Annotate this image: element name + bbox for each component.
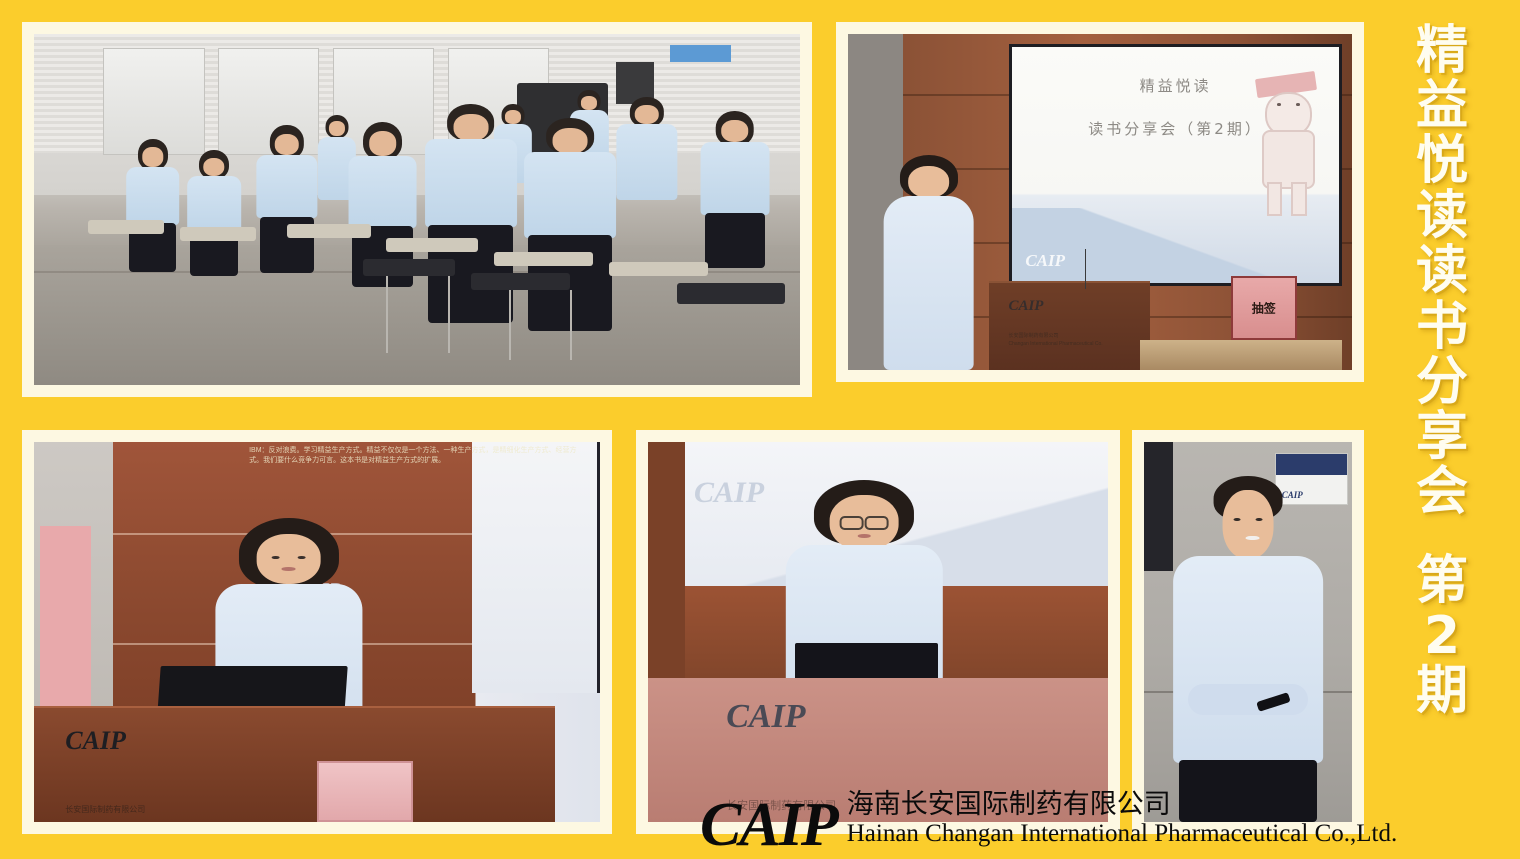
desk-tablet — [494, 252, 594, 266]
watermark: CAIP 海南长安国际制药有限公司 Hainan Changan Interna… — [700, 790, 1397, 852]
attendee — [700, 111, 769, 294]
photo-frame-speaker-projector: 精益悦读 读书分享会（第2期） CAIP CAIP — [836, 22, 1364, 382]
side-table — [1140, 340, 1342, 370]
photo-presenter-at-podium-left: IBM：反对浪费。学习精益生产方式。精益不仅仅是一个方法、一种生产方式，是精细化… — [34, 442, 600, 822]
watermark-logo: CAIP — [700, 799, 837, 852]
podium-subtitle: 长安国际制药有限公司 Changan International Pharmac… — [1008, 333, 1102, 348]
pink-wall-panel — [40, 526, 91, 708]
photo-frame-man-arms-crossed: CAIP — [1132, 430, 1364, 834]
lottery-box: 抽签 — [1231, 276, 1297, 340]
title-char: 第 — [1416, 554, 1468, 609]
title-char: 期 — [1416, 664, 1468, 719]
title-char: 分 — [1416, 355, 1468, 410]
podium-logo: CAIP — [726, 698, 805, 736]
dark-doorway — [1144, 442, 1173, 571]
chair-leg — [570, 290, 572, 360]
desk-tablet — [609, 262, 709, 276]
podium: CAIP 长安国际制药有限公司 Changan International Ph… — [989, 281, 1150, 370]
microphone-stand — [1085, 249, 1086, 289]
attendee-foreground — [425, 104, 517, 350]
photo-frame-classroom-audience — [22, 22, 812, 397]
title-char: 会 — [1416, 465, 1468, 520]
title-char: 悦 — [1416, 134, 1468, 189]
title-char: 书 — [1416, 300, 1468, 355]
podium: CAIP 长安国际制药有限公司 — [34, 706, 555, 822]
watermark-company-en: Hainan Changan International Pharmaceuti… — [847, 820, 1398, 848]
title-char: 精 — [1416, 24, 1468, 79]
lottery-box — [317, 761, 413, 822]
podium-logo: CAIP — [1008, 298, 1043, 315]
slide-body-text: IBM：反对浪费。学习精益生产方式。精益不仅仅是一个方法、一种生产方式，是精细化… — [249, 446, 589, 495]
desk-tablet — [88, 220, 165, 234]
slide-caip-watermark: CAIP — [1025, 251, 1065, 271]
desk-tablet — [386, 238, 478, 252]
wood-wall-left — [648, 442, 685, 678]
photo-presenter-at-podium-center: CAIP CAIP 长安国际制药有限公司 — [648, 442, 1108, 822]
chair-leg — [386, 276, 388, 353]
man-figure — [1173, 476, 1323, 822]
slide-caip-watermark: CAIP — [694, 476, 764, 510]
photo-speaker-with-projector: 精益悦读 读书分享会（第2期） CAIP CAIP — [848, 34, 1352, 370]
chair — [677, 283, 784, 304]
vertical-title-column: 精 益 悦 读 读 书 分 享 会 第 2 期 — [1416, 24, 1468, 719]
desk-tablet — [180, 227, 257, 241]
chair-leg — [509, 290, 511, 360]
photo-classroom-audience — [34, 34, 800, 385]
vertical-title-bar: 精 益 悦 读 读 书 分 享 会 第 2 期 — [1364, 0, 1520, 858]
desk-tablet — [287, 224, 371, 238]
photo-man-arms-crossed: CAIP — [1144, 442, 1352, 822]
speaker-figure — [883, 155, 974, 370]
title-char: 2 — [1424, 609, 1460, 664]
photo-frame-presenter-center: CAIP CAIP 长安国际制药有限公司 — [636, 430, 1120, 834]
watermark-text: 海南长安国际制药有限公司 Hainan Changan Internationa… — [847, 790, 1398, 852]
watermark-company-cn: 海南长安国际制药有限公司 — [847, 790, 1398, 820]
chair-leg — [448, 276, 450, 353]
podium-logo: CAIP — [65, 726, 126, 756]
title-char: 享 — [1416, 410, 1468, 465]
title-char: 益 — [1416, 79, 1468, 134]
attendee — [348, 122, 417, 312]
graduate-mascot-icon — [1251, 75, 1323, 212]
chair — [471, 273, 571, 291]
attendee — [616, 97, 677, 244]
slide-diagonal-band — [1012, 208, 1339, 283]
chair — [363, 259, 455, 277]
title-char: 读 — [1416, 189, 1468, 244]
photo-frame-presenter-left: IBM：反对浪费。学习精益生产方式。精益不仅仅是一个方法、一种生产方式，是精细化… — [22, 430, 612, 834]
lottery-box-label: 抽签 — [1252, 299, 1276, 316]
podium-subtitle: 长安国际制药有限公司 — [65, 804, 145, 815]
poster-canvas: 精益悦读 读书分享会（第2期） CAIP CAIP — [0, 0, 1520, 858]
projection-screen: 精益悦读 读书分享会（第2期） CAIP — [1009, 44, 1342, 286]
attendee — [256, 125, 317, 301]
wall-sign — [670, 45, 731, 63]
title-char: 读 — [1416, 244, 1468, 299]
